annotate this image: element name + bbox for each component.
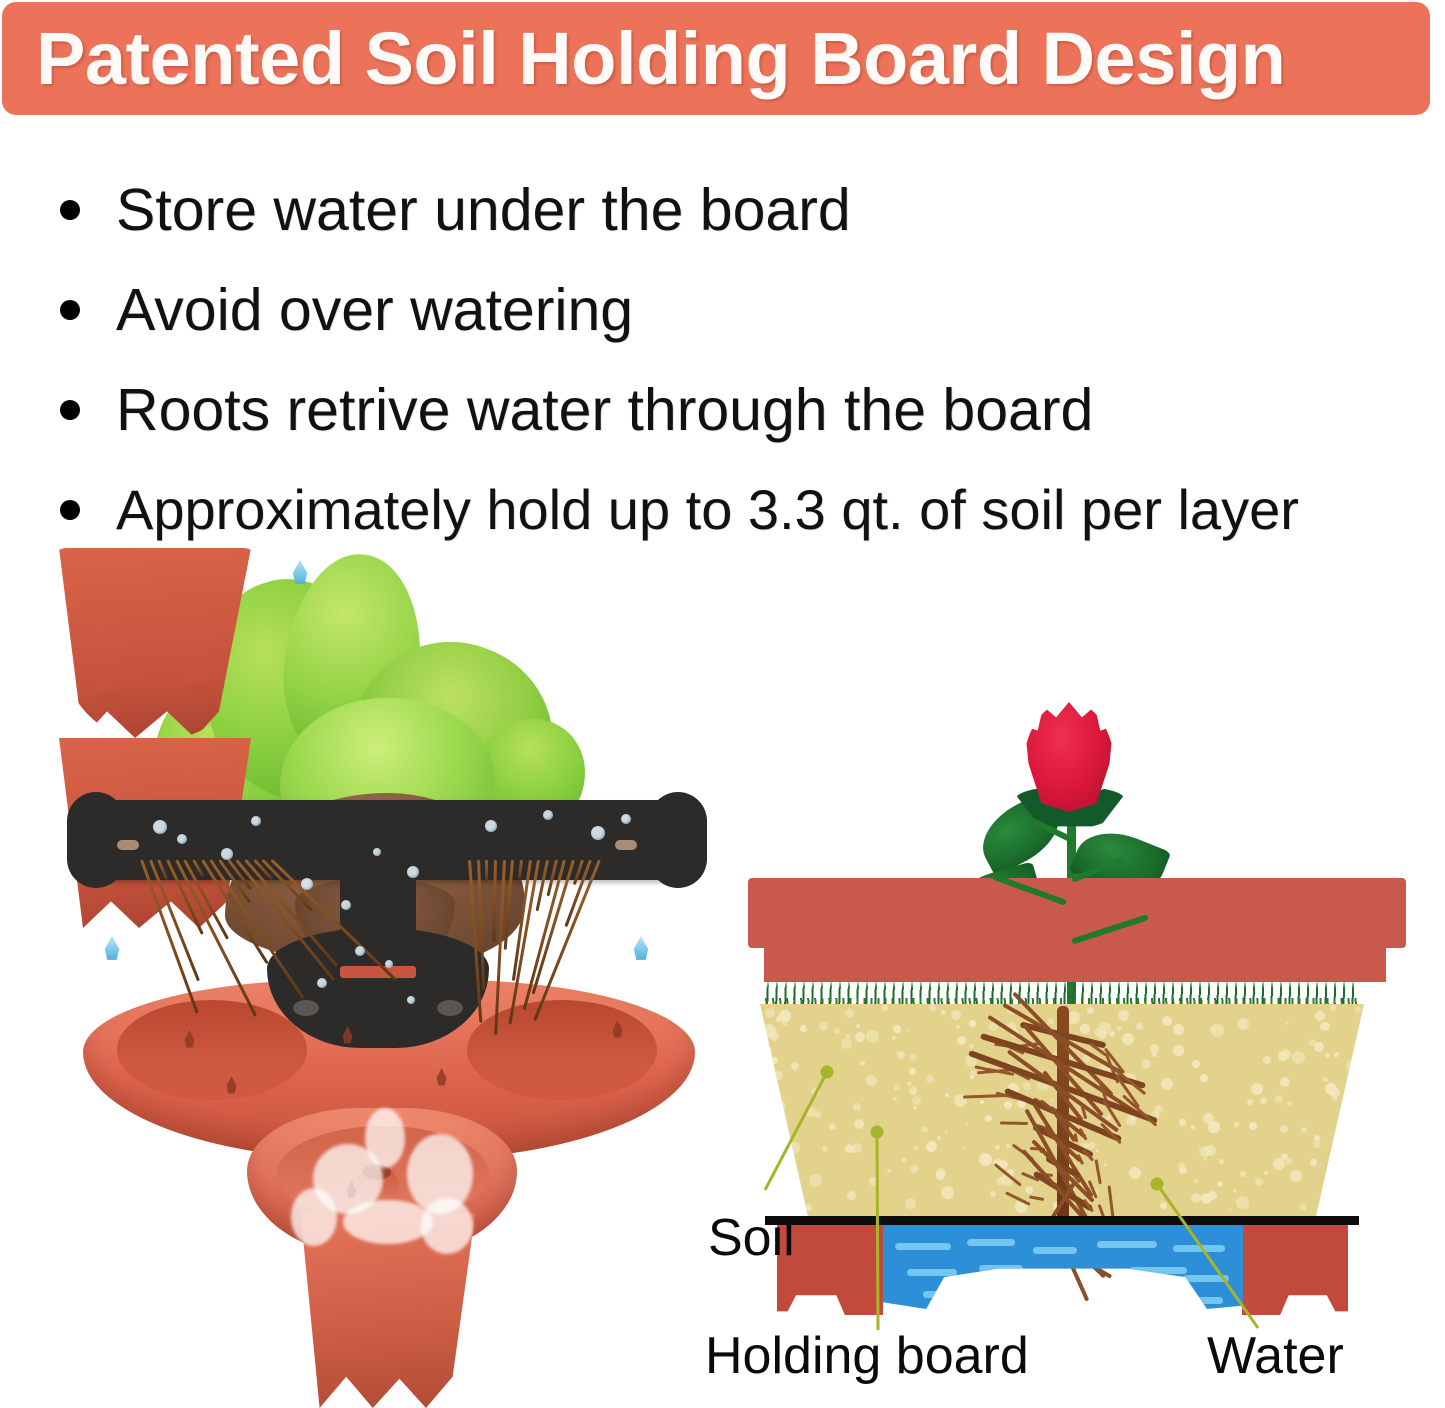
water-wave-layer [883,1225,1243,1309]
droplet-emboss-mark [435,1068,448,1087]
water-wave [907,1269,957,1276]
water-wave [1123,1293,1177,1300]
water-wave [1097,1241,1157,1248]
water-wave [1183,1297,1223,1304]
droplet-emboss-mark [225,1076,238,1095]
droplet-emboss-mark [611,1020,624,1039]
feature-list: Store water under the board Avoid over w… [0,160,1445,560]
list-item: Approximately hold up to 3.3 qt. of soil… [0,460,1445,560]
bullet-dot-icon [60,500,80,520]
water-bead [177,834,187,844]
pot-cross-section-diagram [720,660,1445,1280]
water-bead [385,960,393,968]
water-splash [365,1108,405,1168]
root-hair [994,1163,1022,1187]
water-splash [421,1198,473,1254]
water-decoration-layer [55,548,720,1378]
water-bead [341,900,351,910]
water-bead [407,866,419,878]
water-drop-icon [632,936,650,962]
water-drop-icon [103,936,121,962]
water-bead [251,816,261,826]
list-item: Roots retrive water through the board [0,360,1445,460]
pot-shell-right [1242,1225,1348,1315]
bullet-dot-icon [60,300,80,320]
bullet-dot-icon [60,200,80,220]
water-bead [221,848,233,860]
root-hair [1108,1185,1115,1219]
water-wave [967,1239,1015,1246]
root-hair [1005,1191,1031,1206]
water-bead [355,946,365,956]
holding-board [765,1216,1359,1225]
water-bead [407,996,415,1004]
water-wave [1033,1247,1077,1254]
water-wave [895,1243,951,1250]
annotation-label-water: Water [1207,1330,1344,1382]
feature-text: Approximately hold up to 3.3 qt. of soil… [0,482,1299,538]
stackable-planter-photo [55,548,720,1378]
root-hair [1095,1159,1102,1184]
list-item: Store water under the board [0,160,1445,260]
water-drop-icon [291,560,309,586]
water-wave [923,1291,969,1298]
water-bead [621,814,631,824]
water-splash [343,1200,433,1244]
feature-text: Avoid over watering [0,281,633,340]
root-hair [1000,1122,1028,1125]
feature-text: Store water under the board [0,181,851,240]
root-hair [1029,1195,1044,1201]
water-splash [291,1188,337,1246]
page-title: Patented Soil Holding Board Design [2,22,1285,96]
feature-text: Roots retrive water through the board [0,381,1093,440]
list-item: Avoid over watering [0,260,1445,360]
droplet-emboss-mark [341,1026,354,1045]
water-wave [1173,1245,1225,1252]
annotation-label-holding-board: Holding board [705,1330,1029,1382]
water-wave [1183,1275,1229,1282]
water-bead [301,878,313,890]
droplet-emboss-mark [183,1030,196,1049]
water-bead [153,820,167,834]
bullet-dot-icon [60,400,80,420]
header-banner: Patented Soil Holding Board Design [2,2,1430,115]
root-in-water [1070,1265,1089,1301]
annotation-label-soil: Soil [708,1212,795,1264]
water-bead [317,978,327,988]
root-hair [1077,1154,1085,1165]
root-branch-layer [720,660,1445,1280]
root-hair [1074,1133,1079,1142]
water-bead [373,848,381,856]
water-bead [543,810,553,820]
water-bead [591,826,605,840]
water-bead [485,820,497,832]
